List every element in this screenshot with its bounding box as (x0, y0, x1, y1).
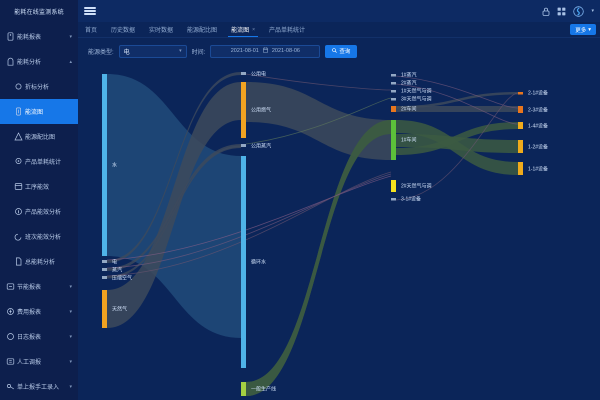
calendar-icon (263, 47, 268, 55)
date-end-value: 2021-08-06 (272, 48, 300, 54)
chevron-down-icon[interactable]: ▾ (591, 8, 594, 14)
sankey-link[interactable] (246, 82, 391, 160)
sidebar: 能耗在线监测系统 能耗报表▾能耗分析▴折标分析能流图能源配比图产品单耗统计工序能… (0, 0, 78, 400)
date-range-picker[interactable]: 2021-08-01 2021-08-06 (210, 45, 320, 58)
lock-icon[interactable] (542, 7, 550, 16)
sankey-node[interactable] (518, 106, 523, 113)
sidebar-item-label: 工序能效 (23, 182, 65, 191)
analysis-icon (6, 57, 15, 66)
main-area: ▾ 首页历史数据实时数据能源配比图能流图×产品单耗统计 更多 ▾ 能源类型: 电… (78, 0, 600, 400)
tab-bar: 首页历史数据实时数据能源配比图能流图×产品单耗统计 更多 ▾ (78, 22, 600, 38)
sankey-node[interactable] (391, 106, 396, 112)
sidebar-item-14[interactable]: 单上报手工录入▾ (0, 374, 78, 399)
cost-icon (6, 307, 15, 316)
user-avatar-icon[interactable] (573, 6, 584, 17)
more-button-label: 更多 (575, 26, 586, 34)
ratio-icon (14, 132, 23, 141)
sankey-node[interactable] (391, 98, 396, 101)
sankey-node[interactable] (102, 268, 107, 271)
log-icon (6, 332, 15, 341)
sidebar-item-5[interactable]: 产品单耗统计 (0, 149, 78, 174)
sankey-link[interactable] (396, 76, 518, 108)
sidebar-item-8[interactable]: 班次能效分析 (0, 224, 78, 249)
manual-icon (6, 357, 15, 366)
filter-toolbar: 能源类型: 电 ▾ 时间: 2021-08-01 2021-08-06 查询 (78, 38, 600, 64)
tab-label: 历史数据 (111, 25, 135, 34)
sankey-node[interactable] (391, 90, 396, 93)
info-icon (14, 207, 23, 216)
sankey-chart-container: 水电蒸汽压缩空气天然气公用电公用燃气公用蒸汽循环水一般生产线1#蒸汽2#蒸汽1#… (78, 64, 600, 400)
sankey-node[interactable] (391, 82, 396, 85)
sankey-link[interactable] (246, 120, 391, 396)
sidebar-item-12[interactable]: 日志报表▾ (0, 324, 78, 349)
sidebar-item-label: 总能耗分析 (23, 257, 65, 266)
sidebar-item-6[interactable]: 工序能效 (0, 174, 78, 199)
shift-icon (14, 232, 23, 241)
topbar-actions: ▾ (542, 6, 594, 17)
tab-label: 能源配比图 (187, 25, 217, 34)
tab-label: 能流图 (231, 25, 249, 34)
upload-icon (6, 382, 15, 391)
chevron-icon: ▴ (65, 59, 72, 65)
tab-label: 产品单耗统计 (269, 25, 305, 34)
app-root: 能耗在线监测系统 能耗报表▾能耗分析▴折标分析能流图能源配比图产品单耗统计工序能… (0, 0, 600, 400)
sidebar-item-10[interactable]: 节能报表▾ (0, 274, 78, 299)
sankey-diagram[interactable] (78, 64, 600, 400)
more-button[interactable]: 更多 ▾ (570, 24, 596, 35)
doc-icon (14, 257, 23, 266)
sidebar-item-label: 班次能效分析 (23, 232, 65, 241)
sankey-node[interactable] (102, 74, 107, 256)
sidebar-item-0[interactable]: 能耗报表▾ (0, 24, 78, 49)
sidebar-item-label: 能源配比图 (23, 132, 65, 141)
sidebar-item-label: 节能报表 (15, 282, 65, 291)
sankey-node[interactable] (391, 74, 396, 77)
tab-0[interactable]: 首页 (78, 22, 104, 37)
sidebar-item-label: 产品单耗统计 (23, 157, 65, 166)
close-icon[interactable]: × (252, 27, 255, 33)
sidebar-item-11[interactable]: 费用报表▾ (0, 299, 78, 324)
tab-3[interactable]: 能源配比图 (180, 22, 224, 37)
sankey-node[interactable] (391, 120, 396, 160)
date-start-value: 2021-08-01 (231, 48, 259, 54)
sidebar-item-label: 折标分析 (23, 82, 65, 91)
target-icon (14, 157, 23, 166)
time-label: 时间: (192, 47, 206, 56)
sidebar-item-13[interactable]: 人工调报▾ (0, 349, 78, 374)
tab-5[interactable]: 产品单耗统计 (262, 22, 312, 37)
tab-1[interactable]: 历史数据 (104, 22, 142, 37)
energy-type-value: 电 (124, 47, 179, 56)
topbar: ▾ (78, 0, 600, 22)
tab-label: 首页 (85, 25, 97, 34)
sankey-node[interactable] (102, 260, 107, 263)
tab-2[interactable]: 实时数据 (142, 22, 180, 37)
sankey-node[interactable] (241, 144, 246, 147)
tab-4[interactable]: 能流图× (224, 22, 262, 37)
sidebar-item-1[interactable]: 能耗分析▴ (0, 49, 78, 74)
energy-type-select[interactable]: 电 ▾ (119, 45, 187, 58)
sankey-node[interactable] (241, 72, 246, 75)
chevron-down-icon: ▾ (588, 27, 591, 33)
grid-icon[interactable] (557, 7, 566, 16)
process-icon (14, 182, 23, 191)
search-button-label: 查询 (339, 47, 350, 55)
sankey-node[interactable] (241, 156, 246, 368)
chevron-icon: ▾ (65, 34, 72, 40)
circle-icon (14, 82, 23, 91)
sidebar-item-label: 人工调报 (15, 357, 65, 366)
chevron-icon: ▾ (65, 334, 72, 340)
flow-icon (14, 107, 23, 116)
sankey-node[interactable] (102, 276, 107, 279)
sidebar-item-7[interactable]: 产品能效分析 (0, 199, 78, 224)
report-icon (6, 32, 15, 41)
sankey-node[interactable] (518, 122, 523, 129)
tab-list: 首页历史数据实时数据能源配比图能流图×产品单耗统计 (78, 22, 312, 37)
sankey-node[interactable] (241, 382, 246, 396)
sidebar-item-label: 单上报手工录入 (15, 382, 65, 391)
hamburger-icon[interactable] (84, 5, 96, 17)
sidebar-item-label: 费用报表 (15, 307, 65, 316)
chevron-icon: ▾ (65, 359, 72, 365)
chevron-icon: ▾ (65, 309, 72, 315)
sidebar-item-label: 产品能效分析 (23, 207, 65, 216)
chevron-down-icon: ▾ (179, 48, 182, 54)
sankey-node[interactable] (518, 140, 523, 153)
sidebar-item-label: 能耗分析 (15, 57, 65, 66)
saving-icon (6, 282, 15, 291)
app-brand: 能耗在线监测系统 (0, 0, 78, 22)
tab-label: 实时数据 (149, 25, 173, 34)
energy-type-label: 能源类型: (88, 47, 114, 56)
search-button[interactable]: 查询 (325, 45, 357, 58)
sidebar-item-label: 能耗报表 (15, 32, 65, 41)
search-icon (332, 48, 337, 55)
chevron-icon: ▾ (65, 284, 72, 290)
sankey-node[interactable] (102, 290, 107, 328)
sankey-node[interactable] (391, 198, 396, 201)
sankey-node[interactable] (241, 82, 246, 138)
chevron-icon: ▾ (65, 384, 72, 390)
sankey-node[interactable] (518, 162, 523, 175)
sidebar-item-label: 日志报表 (15, 332, 65, 341)
sidebar-item-4[interactable]: 能源配比图 (0, 124, 78, 149)
sidebar-item-9[interactable]: 总能耗分析 (0, 249, 78, 274)
sidebar-item-3[interactable]: 能流图 (0, 99, 78, 124)
sankey-node[interactable] (391, 180, 396, 192)
sidebar-menu: 能耗报表▾能耗分析▴折标分析能流图能源配比图产品单耗统计工序能效产品能效分析班次… (0, 22, 78, 400)
sidebar-item-label: 能流图 (23, 107, 65, 116)
sidebar-item-2[interactable]: 折标分析 (0, 74, 78, 99)
sankey-node[interactable] (518, 92, 523, 95)
